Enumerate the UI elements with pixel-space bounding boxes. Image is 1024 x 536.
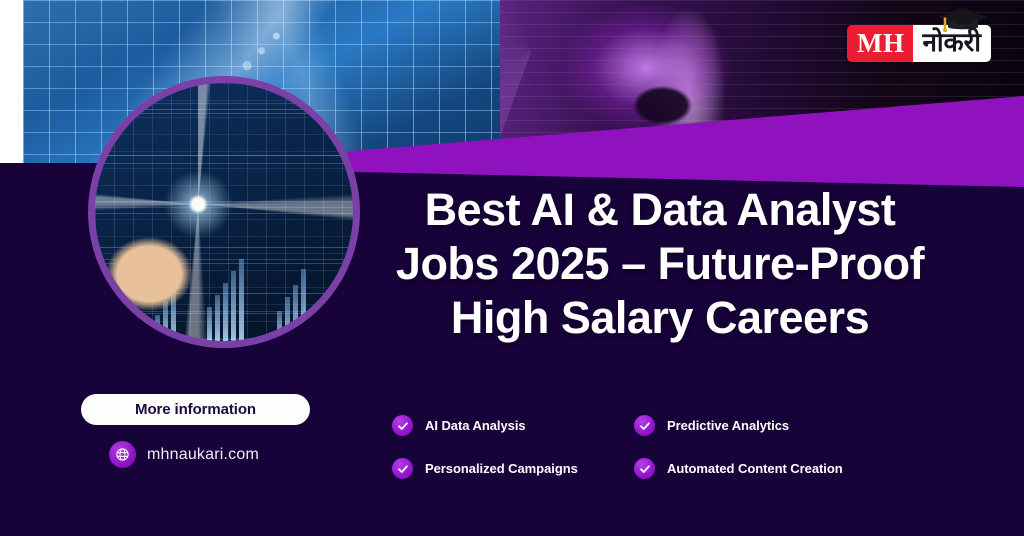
more-information-button[interactable]: More information (81, 394, 310, 425)
brand-logo[interactable]: MH नोकरी (847, 25, 991, 62)
website-link[interactable]: mhnaukari.com (109, 441, 259, 468)
graduation-cap-icon (937, 6, 989, 32)
hero-chart-bars (95, 83, 353, 341)
globe-icon (109, 441, 136, 468)
feature-label: AI Data Analysis (425, 418, 526, 433)
feature-label: Predictive Analytics (667, 418, 789, 433)
logo-mh-mark: MH (847, 25, 914, 62)
check-circle-icon (392, 415, 413, 436)
promo-poster: MH नोकरी Best AI & Data Anal (0, 0, 1024, 536)
feature-label: Automated Content Creation (667, 461, 843, 476)
website-url-text: mhnaukari.com (147, 446, 259, 464)
logo-nokri-word: नोकरी (913, 25, 991, 62)
check-circle-icon (392, 458, 413, 479)
list-item[interactable]: Automated Content Creation (634, 447, 870, 490)
banner-white-strip (0, 0, 23, 163)
hero-analytics-image (95, 83, 353, 341)
list-item[interactable]: Personalized Campaigns (392, 447, 628, 490)
more-information-label: More information (135, 401, 256, 418)
check-circle-icon (634, 415, 655, 436)
list-item[interactable]: AI Data Analysis (392, 404, 628, 447)
hero-circle-frame (88, 76, 360, 348)
list-item[interactable]: Predictive Analytics (634, 404, 870, 447)
feature-label: Personalized Campaigns (425, 461, 578, 476)
feature-list: AI Data Analysis Predictive Analytics Pe… (392, 404, 892, 490)
check-circle-icon (634, 458, 655, 479)
page-title: Best AI & Data Analyst Jobs 2025 – Futur… (380, 183, 940, 345)
